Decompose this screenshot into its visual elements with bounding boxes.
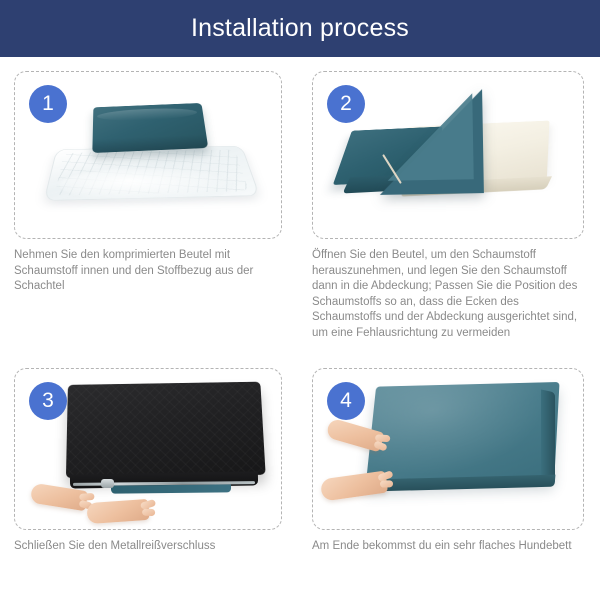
step-caption-4: Am Ende bekommst du ein sehr flaches Hun… [312, 539, 584, 555]
vacuum-bag-sheen [59, 168, 235, 202]
page-title: Installation process [191, 16, 409, 41]
step-caption-1: Nehmen Sie den komprimierten Beutel mit … [14, 248, 282, 295]
step-badge-4: 4 [327, 382, 365, 420]
step-badge-1: 1 [29, 85, 67, 123]
folded-teal-cover-shape [92, 103, 208, 153]
finger-shape [380, 480, 393, 487]
step-card-4: 4 Am Ende bekommst du ein sehr flaches H… [312, 368, 584, 555]
step-4-image-frame: 4 [312, 368, 584, 530]
teal-bed-right-edge-shape [541, 390, 555, 485]
finger-shape [142, 509, 155, 516]
step-1-image-frame: 1 [14, 71, 282, 239]
dark-bed-top-shape [66, 382, 266, 478]
step-2-image-frame: 2 [312, 71, 584, 239]
step-caption-3: Schließen Sie den Metallreißverschluss [14, 539, 282, 555]
header-banner: Installation process [0, 0, 600, 57]
step-badge-3: 3 [29, 382, 67, 420]
finished-teal-bed-shape [366, 382, 560, 486]
installation-steps-grid: 1 Nehmen Sie den komprimierten Beutel mi… [0, 57, 600, 600]
teal-liner-peek-shape [111, 484, 231, 493]
step-3-image-frame: 3 [14, 368, 282, 530]
zipper-pull-shape [101, 479, 114, 488]
step-card-3: 3 Schließen Sie den Metallreißverschluss [14, 368, 282, 555]
step-caption-2: Öffnen Sie den Beutel, um den Schaumstof… [312, 248, 584, 341]
step-card-2: 2 Öffnen Sie den Beutel, um den Schaumst… [312, 71, 584, 341]
step-card-1: 1 Nehmen Sie den komprimierten Beutel mi… [14, 71, 282, 295]
step-badge-2: 2 [327, 85, 365, 123]
teal-cover-flap-highlight-shape [386, 93, 473, 180]
hand-lower-shape [320, 471, 388, 502]
hand-right-shape [86, 499, 149, 524]
